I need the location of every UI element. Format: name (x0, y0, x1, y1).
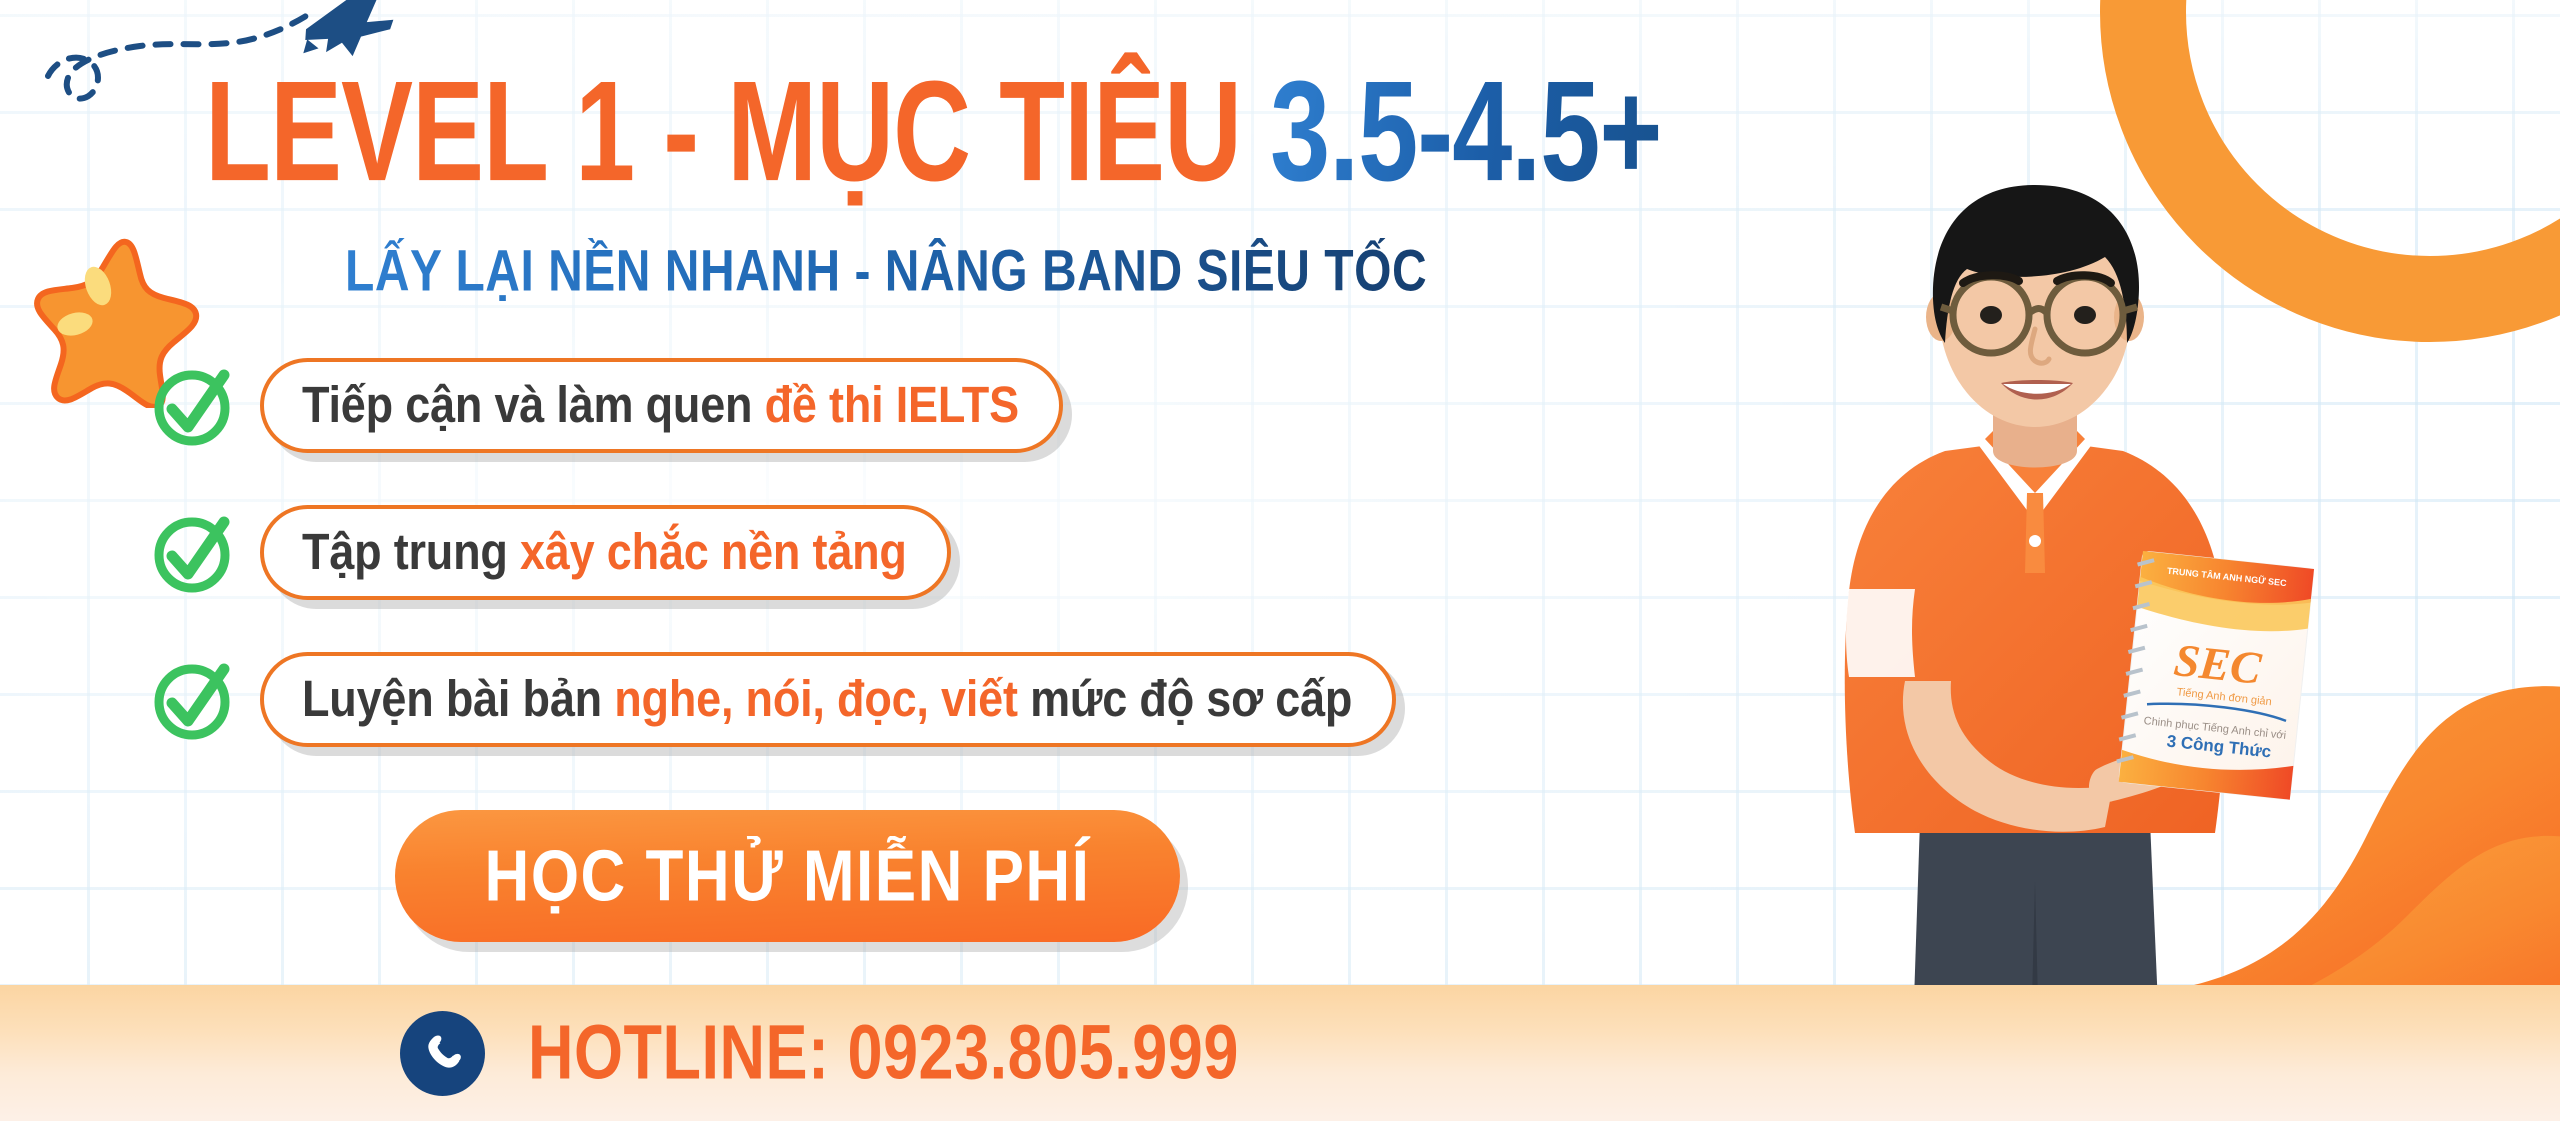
feature-pill: Luyện bài bản nghe, nói, đọc, viết mức đ… (260, 652, 1396, 747)
feature-text-highlight: nghe, nói, đọc, viết (614, 669, 1018, 727)
list-item: Luyện bài bản nghe, nói, đọc, viết mức đ… (150, 639, 1396, 759)
green-check-circle-icon (150, 508, 238, 596)
feature-text-highlight: đề thi IELTS (765, 375, 1019, 433)
page-title: LEVEL 1 - MỤC TIÊU 3.5-4.5+ (205, 56, 1661, 206)
feature-text-plain: Tập trung (302, 522, 520, 580)
headline-orange: LEVEL 1 - MỤC TIÊU (205, 51, 1241, 211)
feature-pill: Tiếp cận và làm quen đề thi IELTS (260, 358, 1063, 453)
free-trial-button-label: HỌC THỬ MIỄN PHÍ (485, 835, 1091, 917)
promo-banner: LEVEL 1 - MỤC TIÊU 3.5-4.5+ LẤY LẠI NỀN … (0, 0, 2560, 1121)
feature-text-highlight: xây chắc nền tảng (520, 522, 907, 580)
phone-handset-glyph (417, 1027, 469, 1079)
green-check-circle-icon (150, 361, 238, 449)
teacher-photo: TRUNG TÂM ANH NGỮ SEC SEC Tiếng Anh đơn … (1745, 121, 2325, 1121)
green-check-circle-icon (150, 655, 238, 743)
hotline-bar: HOTLINE: 0923.805.999 (0, 985, 2560, 1121)
feature-text-plain: Luyện bài bản (302, 669, 614, 727)
free-trial-button[interactable]: HỌC THỬ MIỄN PHÍ (395, 810, 1180, 942)
feature-text-plain-2: mức độ sơ cấp (1018, 669, 1352, 727)
headline-blue: 3.5-4.5+ (1270, 51, 1661, 211)
list-item: Tập trung xây chắc nền tảng (150, 492, 1396, 612)
feature-list: Tiếp cận và làm quen đề thi IELTS Tập tr… (150, 345, 1396, 786)
list-item: Tiếp cận và làm quen đề thi IELTS (150, 345, 1396, 465)
book-logo: SEC (2172, 634, 2265, 694)
feature-text-plain: Tiếp cận và làm quen (302, 375, 765, 433)
hotline-label: HOTLINE: 0923.805.999 (528, 1009, 1239, 1097)
feature-text: Tập trung xây chắc nền tảng (302, 522, 907, 581)
page-subtitle: LẤY LẠI NỀN NHANH - NÂNG BAND SIÊU TỐC (345, 238, 1427, 305)
feature-pill: Tập trung xây chắc nền tảng (260, 505, 951, 600)
feature-text: Tiếp cận và làm quen đề thi IELTS (302, 375, 1019, 434)
phone-icon (400, 1011, 485, 1096)
feature-text: Luyện bài bản nghe, nói, đọc, viết mức đ… (302, 669, 1352, 728)
